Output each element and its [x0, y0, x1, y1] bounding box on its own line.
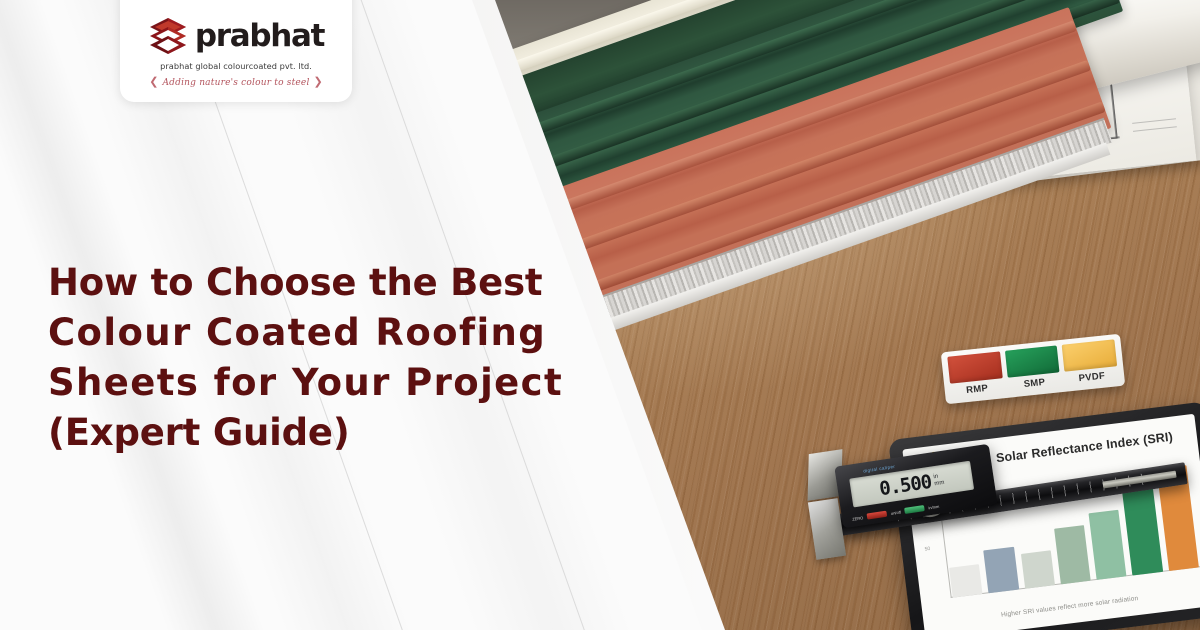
headline-line-3: Sheets for Your Project	[48, 358, 568, 408]
caliper-red-button[interactable]	[867, 511, 888, 520]
swirl-right-icon: ❯	[314, 75, 323, 88]
sri-bar-C4	[1054, 525, 1091, 584]
page-title: How to Choose the Best Colour Coated Roo…	[48, 258, 568, 458]
brand-tagline: Adding nature's colour to steel	[162, 78, 309, 88]
blog-banner: RMP SMP PVDF Solar Reflectance Index (SR…	[0, 0, 1200, 630]
brand-logo-card[interactable]: prabhat prabhat global colourcoated pvt.…	[120, 0, 352, 102]
chart-ytick-50: 50	[924, 546, 930, 553]
caliper-unit-bottom: mm	[934, 479, 945, 486]
sri-bar-C5	[1089, 510, 1127, 580]
tablet-screen: Solar Reflectance Index (SRI) 100 50 Hig…	[902, 414, 1200, 630]
swirl-left-icon: ❮	[149, 75, 158, 88]
stacked-diamond-logo-icon	[148, 16, 188, 56]
caliper-button-zero[interactable]: ZERO	[852, 515, 864, 522]
headline-line-1: How to Choose the Best	[48, 258, 568, 308]
sri-chart-title: Solar Reflectance Index (SRI)	[995, 430, 1173, 466]
swatch-item: PVDF	[1062, 339, 1119, 385]
swatch-chip-pvdf	[1062, 339, 1117, 371]
swatch-item: SMP	[1005, 345, 1062, 391]
sri-bar-C3	[1021, 551, 1055, 589]
caliper-button-onoff[interactable]: on/off	[890, 509, 901, 515]
headline-line-4: (Expert Guide)	[48, 408, 568, 458]
swatch-label-rmp: RMP	[966, 383, 989, 396]
caliper-green-button[interactable]	[904, 505, 925, 514]
swatch-item: RMP	[947, 351, 1004, 397]
caliper-reading: 0.500	[878, 470, 933, 499]
headline-line-2: Colour Coated Roofing	[48, 308, 568, 358]
caliper-button-inmm[interactable]: in/mm	[928, 503, 940, 510]
sri-bar-C2	[983, 547, 1018, 594]
sri-bar-C1	[949, 564, 983, 598]
brand-name: prabhat	[195, 21, 324, 52]
swatch-chip-rmp	[947, 351, 1002, 383]
swatch-label-smp: SMP	[1023, 377, 1046, 390]
swatch-chip-smp	[1005, 345, 1060, 377]
brand-subtitle: prabhat global colourcoated pvt. ltd.	[160, 61, 312, 71]
sri-bar-C6	[1123, 488, 1163, 575]
swatch-label-pvdf: PVDF	[1078, 371, 1106, 385]
